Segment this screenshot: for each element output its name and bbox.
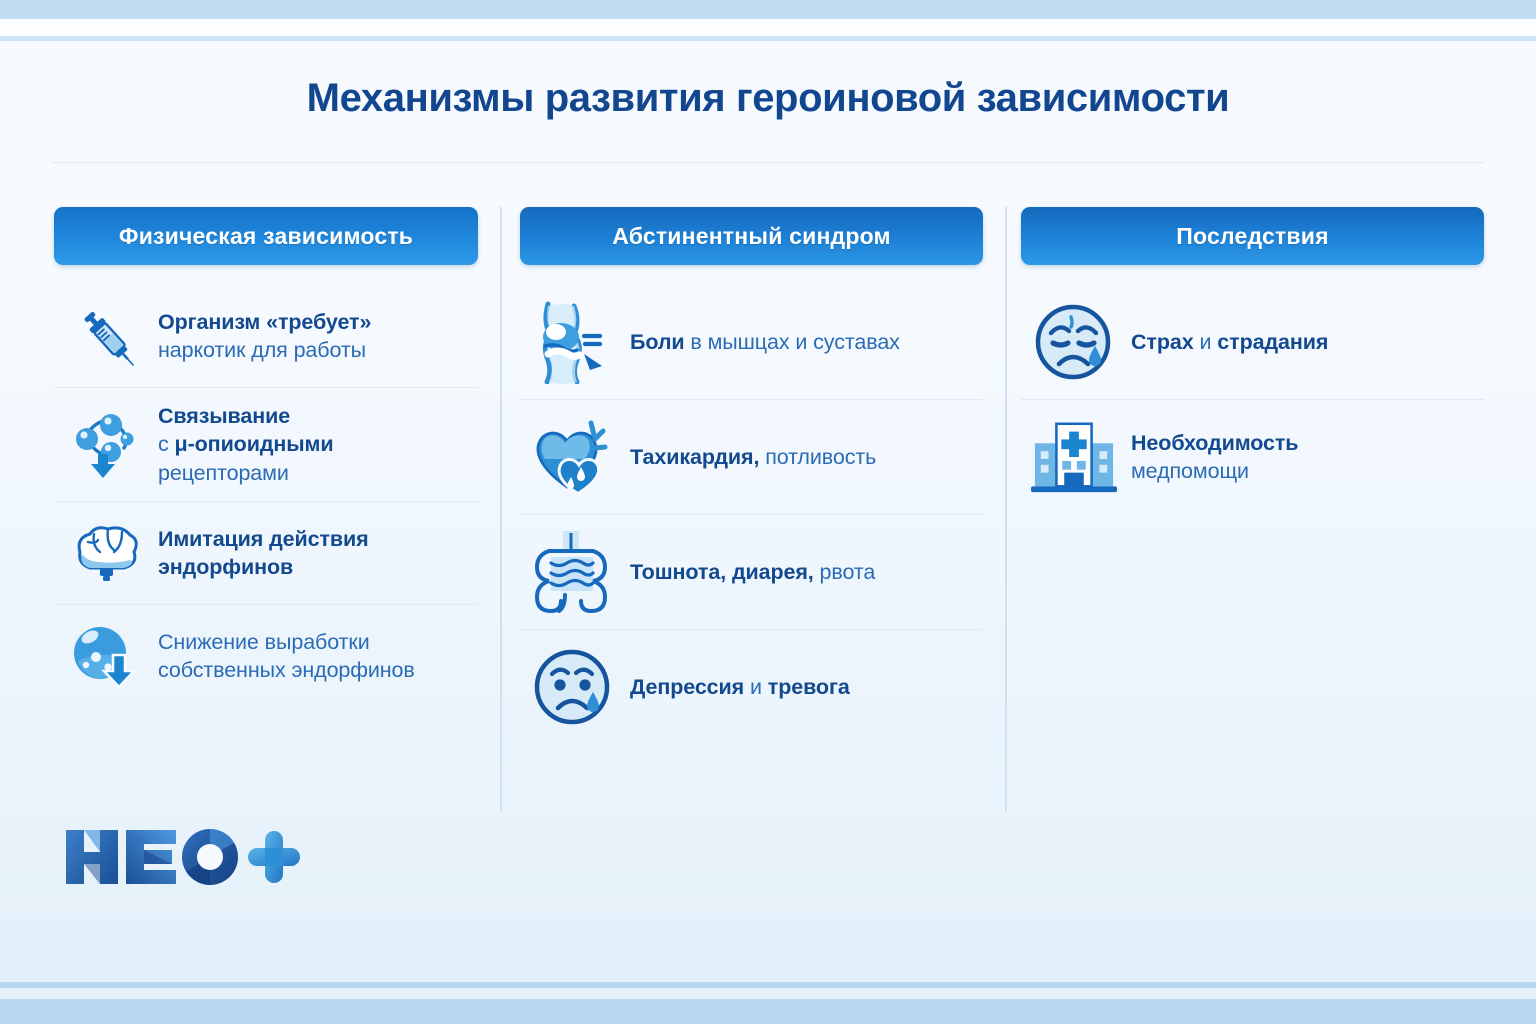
- item-text-regular: в мышцах и суставах: [685, 330, 900, 354]
- list-item-label: Страх и страдания: [1131, 328, 1328, 356]
- intestine-icon: [530, 529, 616, 615]
- item-line-bold: Связывание: [158, 404, 290, 428]
- list-item[interactable]: Депрессия и тревога: [520, 630, 983, 744]
- column-header-withdrawal-syndrome[interactable]: Абстинентный синдром: [520, 207, 983, 265]
- bottom-border-gap: [0, 988, 1536, 999]
- list-item-label: Имитация действия эндорфинов: [158, 525, 369, 582]
- hospital-icon: [1031, 414, 1117, 500]
- list-item-label: Связывание с μ-опиоидными рецепторами: [158, 402, 333, 487]
- item-line-bold: Организм «требует»: [158, 310, 371, 334]
- item-text-bold: Боли: [630, 330, 685, 354]
- list-physical-dependence: Организм «требует» наркотик для работы: [54, 285, 478, 707]
- list-item[interactable]: Тошнота, диарея, рвота: [520, 515, 983, 630]
- item-text-regular: и: [744, 675, 768, 699]
- item-text-bold: Тахикардия,: [630, 445, 759, 469]
- item-line-regular: наркотик для работы: [158, 338, 366, 362]
- title-divider: [52, 162, 1484, 163]
- top-border-line: [0, 36, 1536, 41]
- syringe-icon: [70, 299, 144, 373]
- list-withdrawal-syndrome: Боли в мышцах и суставах: [520, 285, 983, 744]
- column-header-consequences[interactable]: Последствия: [1021, 207, 1484, 265]
- item-line-bold: Имитация действия: [158, 527, 369, 551]
- column-withdrawal-syndrome: Абстинентный синдром: [500, 207, 1005, 827]
- list-item-label: Боли в мышцах и суставах: [630, 328, 900, 356]
- molecule-receptor-icon: [70, 408, 144, 482]
- bottom-border-line: [0, 982, 1536, 988]
- item-text-regular: потливость: [759, 445, 876, 469]
- sphere-down-arrow-icon: [70, 619, 144, 693]
- joint-pain-icon: [530, 299, 616, 385]
- bottom-border-band: [0, 999, 1536, 1024]
- list-item[interactable]: Имитация действия эндорфинов: [54, 502, 478, 605]
- list-item[interactable]: Необходимость медпомощи: [1021, 400, 1484, 514]
- list-item-label: Тошнота, диарея, рвота: [630, 558, 875, 586]
- item-line-bold: Необходимость: [1131, 431, 1298, 455]
- item-line-regular: медпомощи: [1131, 459, 1249, 483]
- brain-icon: [70, 516, 144, 590]
- item-text-bold: Депрессия: [630, 675, 744, 699]
- list-item-label: Организм «требует» наркотик для работы: [158, 308, 371, 365]
- top-border-band: [0, 0, 1536, 19]
- sad-face-tear-icon: [530, 644, 616, 730]
- item-line-bold-2: μ-опиоидными: [175, 432, 334, 456]
- list-item-label: Необходимость медпомощи: [1131, 429, 1298, 486]
- item-line-bold-2: эндорфинов: [158, 555, 293, 579]
- list-item[interactable]: Снижение выработки собственных эндорфино…: [54, 605, 478, 707]
- list-item[interactable]: Организм «требует» наркотик для работы: [54, 285, 478, 388]
- column-physical-dependence: Физическая зависимость: [0, 207, 500, 827]
- item-text-bold-2: страдания: [1217, 330, 1328, 354]
- list-item-label: Снижение выработки собственных эндорфино…: [158, 628, 415, 685]
- item-text-bold-2: тревога: [768, 675, 850, 699]
- heart-sweat-icon: [530, 414, 616, 500]
- item-text-regular: рвота: [814, 560, 876, 584]
- column-consequences: Последствия Стра: [1005, 207, 1536, 827]
- list-item-label: Тахикардия, потливость: [630, 443, 876, 471]
- list-item[interactable]: Боли в мышцах и суставах: [520, 285, 983, 400]
- item-text-regular: и: [1194, 330, 1218, 354]
- list-consequences: Страх и страдания: [1021, 285, 1484, 514]
- list-item[interactable]: Тахикардия, потливость: [520, 400, 983, 515]
- item-line-regular: Снижение выработки: [158, 630, 370, 654]
- list-item-label: Депрессия и тревога: [630, 673, 850, 701]
- item-line-regular-2: собственных эндорфинов: [158, 658, 415, 682]
- top-border-gap: [0, 19, 1536, 36]
- worried-face-tear-icon: [1031, 299, 1117, 385]
- item-line-regular: рецепторами: [158, 461, 289, 485]
- item-line-prefix: с: [158, 432, 175, 456]
- list-item[interactable]: Страх и страдания: [1021, 285, 1484, 400]
- column-header-physical-dependence[interactable]: Физическая зависимость: [54, 207, 478, 265]
- list-item[interactable]: Связывание с μ-опиоидными рецепторами: [54, 388, 478, 502]
- columns-container: Физическая зависимость: [0, 207, 1536, 827]
- item-text-bold: Страх: [1131, 330, 1194, 354]
- item-text-bold: Тошнота, диарея,: [630, 560, 814, 584]
- page-title: Механизмы развития героиновой зависимост…: [0, 76, 1536, 121]
- neo-plus-logo[interactable]: [62, 822, 302, 892]
